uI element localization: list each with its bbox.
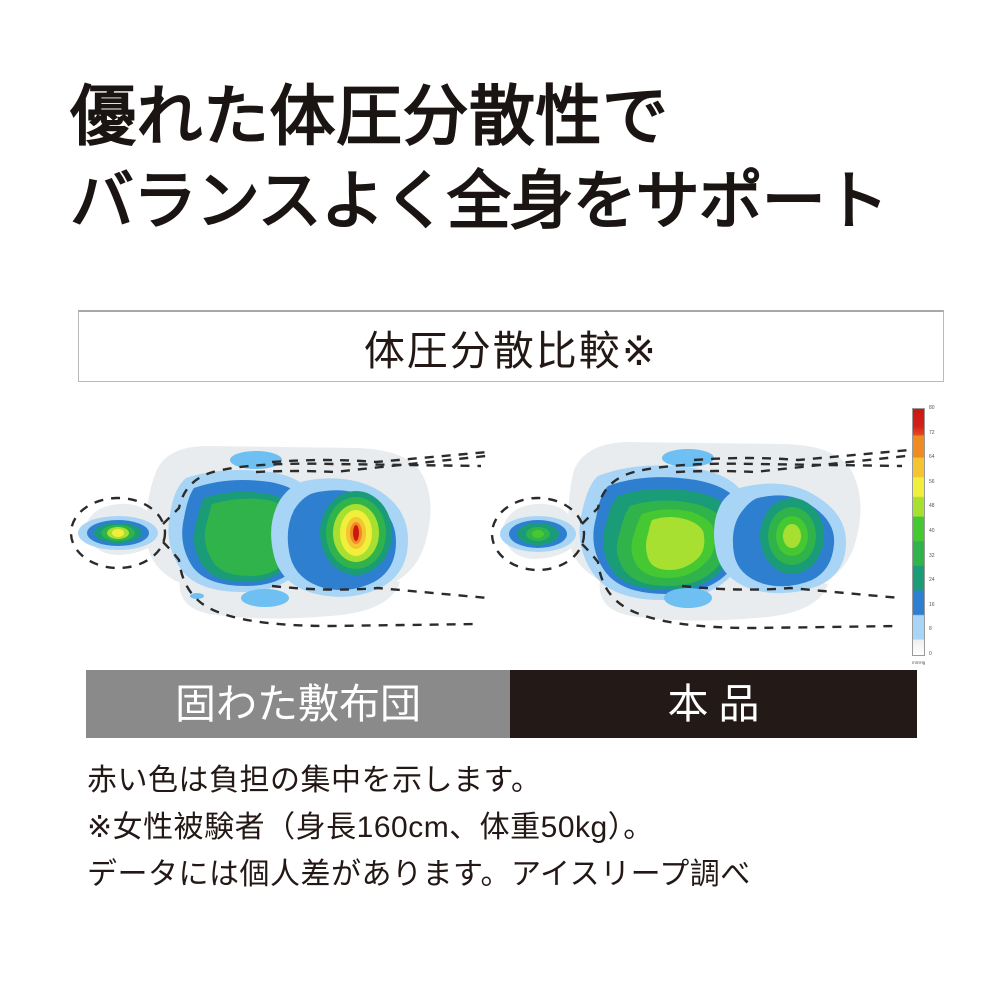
- footnotes: 赤い色は負担の集中を示します。 ※女性被験者（身長160cm、体重50kg）。 …: [87, 757, 957, 898]
- colorbar-tick-40: 40: [929, 529, 935, 534]
- colorbar-unit-label: mmHg: [912, 660, 925, 665]
- colorbar-tick-24: 24: [929, 578, 935, 583]
- colorbar-tick-16: 16: [929, 603, 935, 608]
- label-control-text: 固わた敷布団: [175, 684, 421, 725]
- section-title-box: 体圧分散比較※: [78, 310, 944, 382]
- colorbar-tick-8: 8: [929, 627, 932, 632]
- headline-line-1: 優れた体圧分散性で: [70, 76, 950, 160]
- colorbar-legend: 80 72 64 56 48 40 32 24 16 8 0 mmHg: [912, 408, 990, 670]
- infographic-page: 優れた体圧分散性で バランスよく全身をサポート 体圧分散比較※: [0, 0, 1000, 1000]
- colorbar-tick-64: 64: [929, 455, 935, 460]
- label-product-text: 本品: [658, 684, 770, 725]
- colorbar-tick-80: 80: [929, 406, 935, 411]
- label-bar-control: 固わた敷布団: [86, 670, 510, 738]
- pressure-map-control: [60, 400, 490, 670]
- colorbar-gradient: [912, 408, 925, 656]
- headline-line-2: バランスよく全身をサポート: [70, 160, 950, 244]
- colorbar-tick-72: 72: [929, 431, 935, 436]
- footnote-line-2: ※女性被験者（身長160cm、体重50kg）。: [87, 804, 957, 851]
- page-title: 優れた体圧分散性で バランスよく全身をサポート: [70, 76, 950, 244]
- section-title-label: 体圧分散比較※: [364, 317, 658, 377]
- colorbar-tick-56: 56: [929, 480, 935, 485]
- label-bar-product: 本品: [510, 670, 917, 738]
- pressure-map-product: [490, 400, 920, 670]
- footnote-line-3: データには個人差があります。アイスリープ調べ: [87, 851, 957, 898]
- pressure-contours-control: [78, 446, 431, 619]
- colorbar-tick-32: 32: [929, 554, 935, 559]
- pressure-contours-product: [500, 442, 861, 621]
- colorbar-tick-0: 0: [929, 652, 932, 657]
- colorbar-tick-48: 48: [929, 504, 935, 509]
- comparison-label-bars: 固わた敷布団 本品: [86, 670, 917, 738]
- footnote-line-1: 赤い色は負担の集中を示します。: [87, 757, 957, 804]
- pressure-map-comparison: [60, 400, 920, 670]
